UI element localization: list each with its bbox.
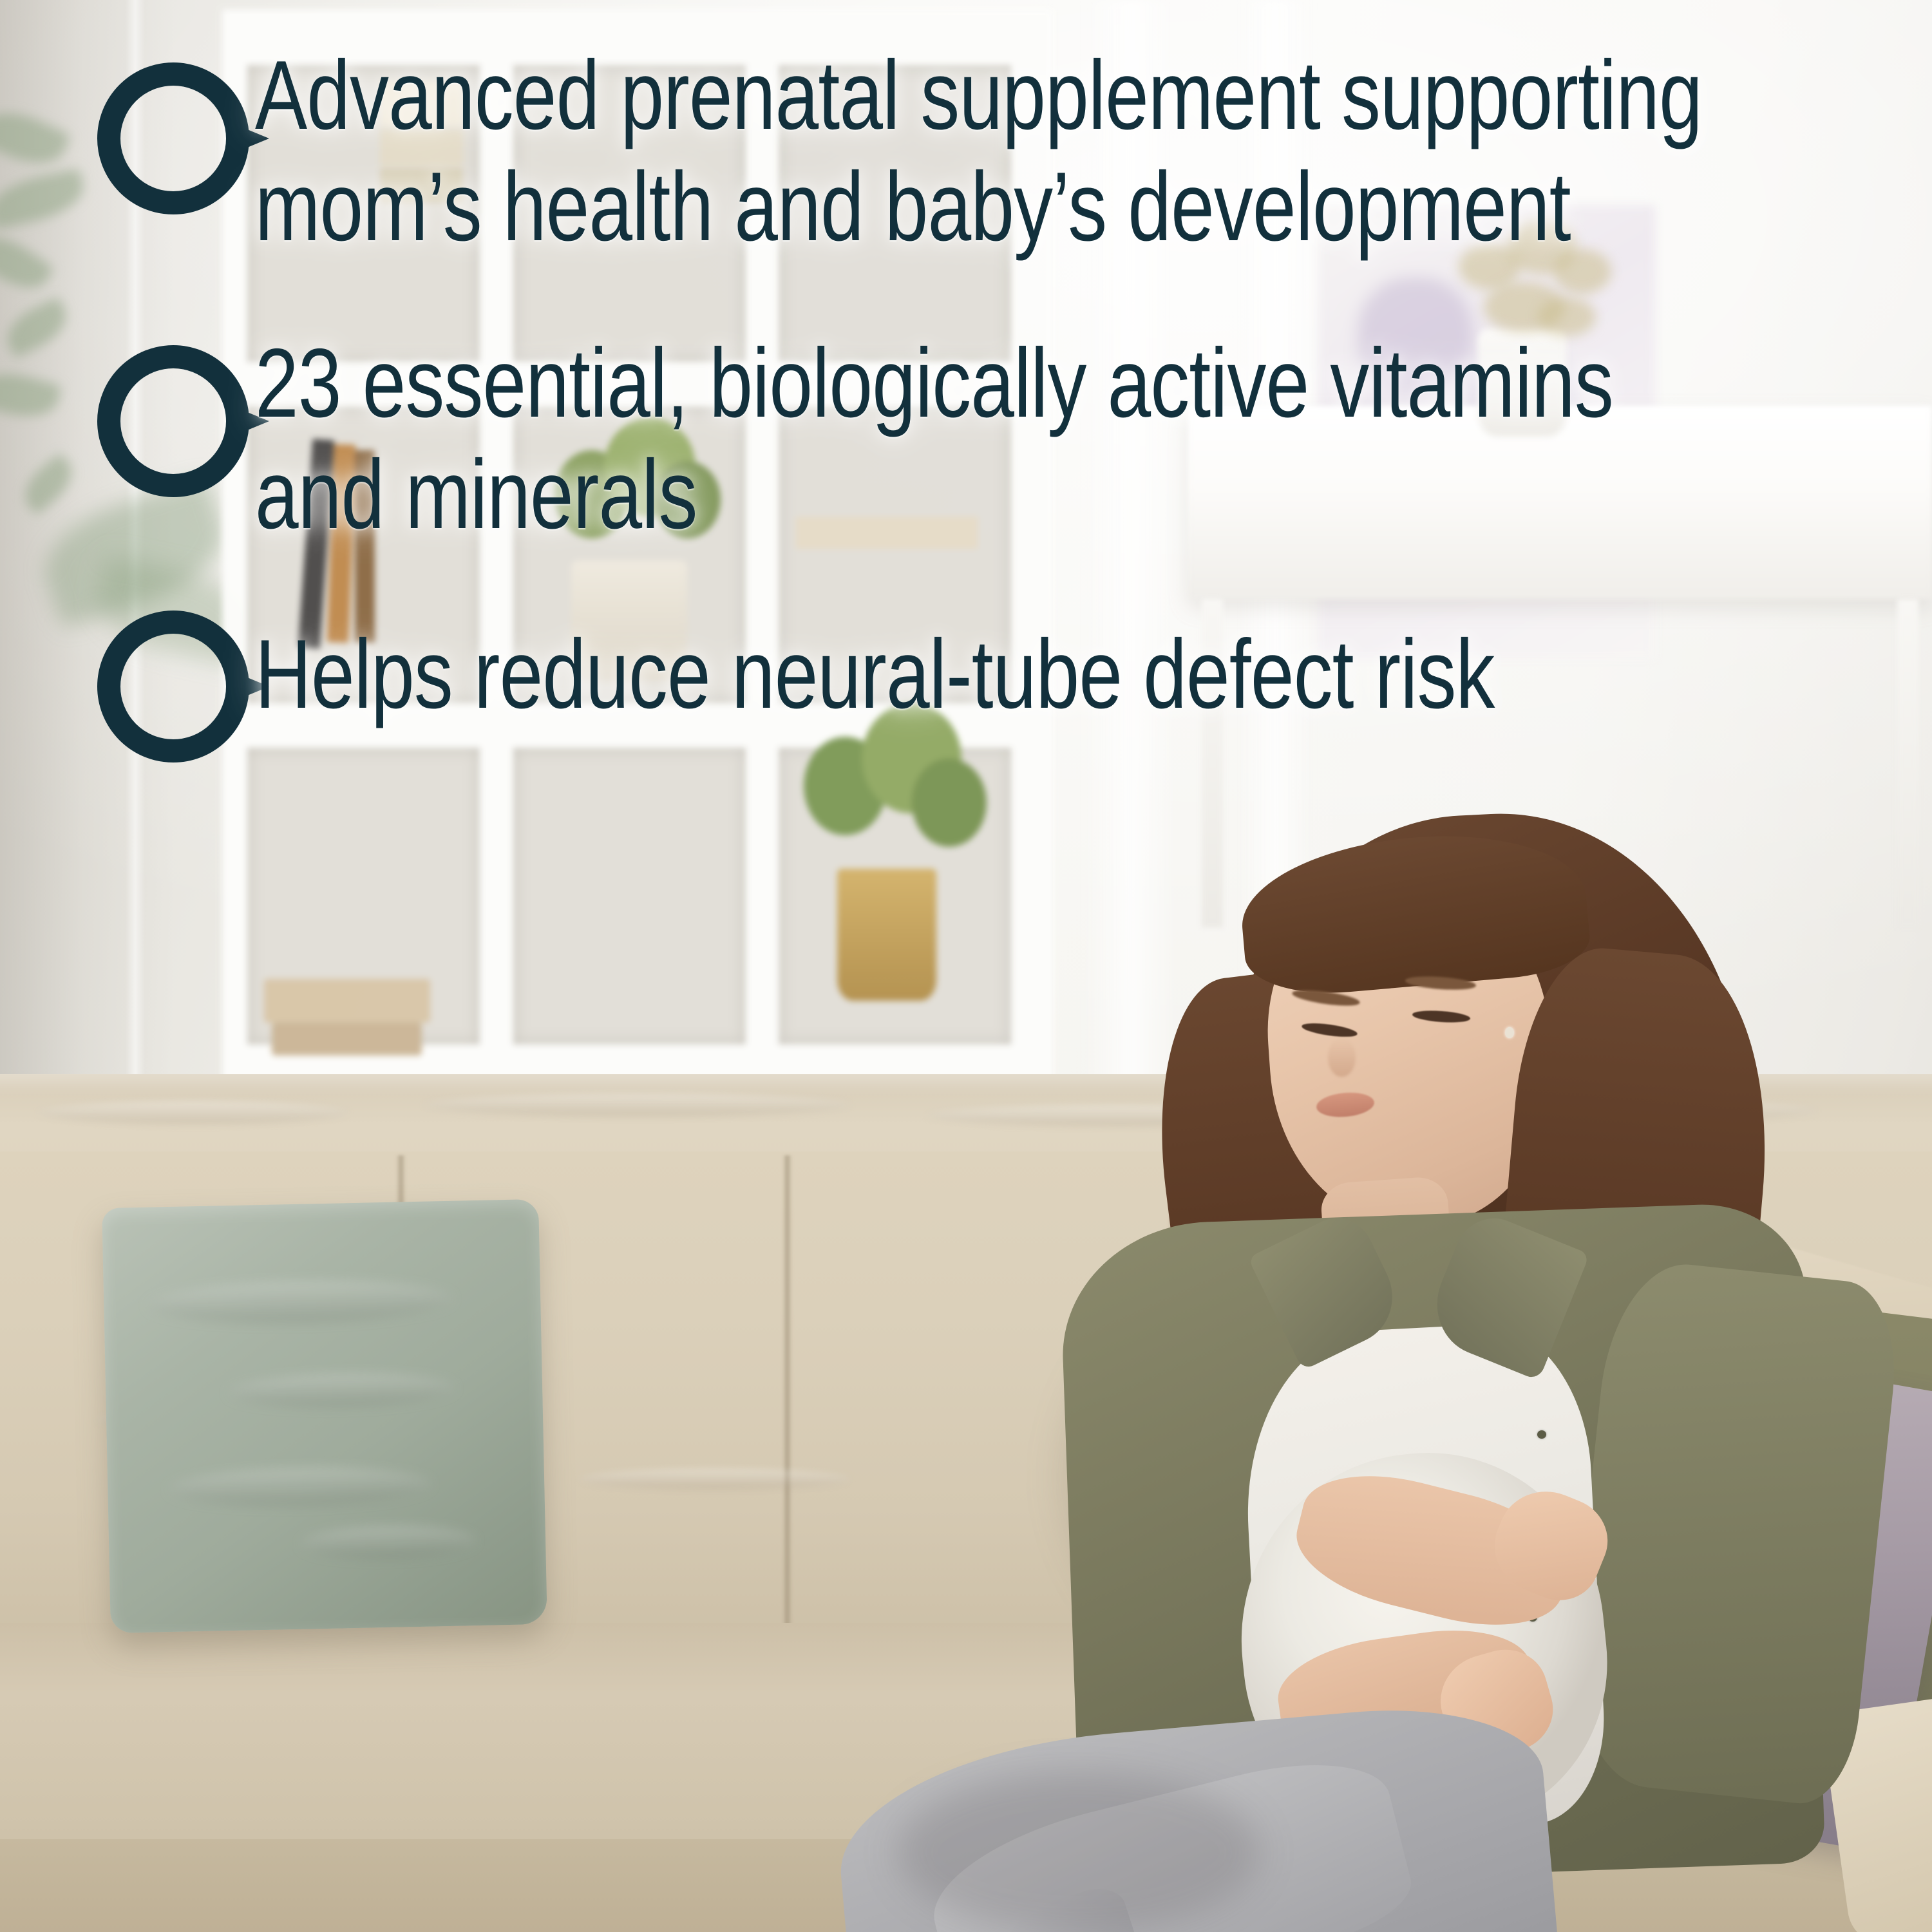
- bullet-line: mom’s health and baby’s development: [255, 151, 1702, 263]
- list-item: 23 essential, biologically active vitami…: [97, 328, 1919, 551]
- product-marketing-image: Advanced prenatal supplement supporting …: [0, 0, 1932, 1932]
- bullet-text: Helps reduce neural-tube defect risk: [255, 619, 1586, 730]
- ring-pointer-bullet-icon: [97, 62, 269, 215]
- bullet-line: Advanced prenatal supplement supporting: [255, 40, 1702, 151]
- ring-pointer-bullet-icon: [97, 345, 269, 498]
- benefit-bullet-list: Advanced prenatal supplement supporting …: [97, 40, 1919, 763]
- list-item: Advanced prenatal supplement supporting …: [97, 40, 1919, 263]
- bullet-text: Advanced prenatal supplement supporting …: [255, 40, 1702, 263]
- list-item: Helps reduce neural-tube defect risk: [97, 615, 1919, 763]
- text-overlay: Advanced prenatal supplement supporting …: [0, 0, 1932, 1932]
- bullet-text: 23 essential, biologically active vitami…: [255, 328, 1613, 551]
- bullet-line: 23 essential, biologically active vitami…: [255, 328, 1613, 439]
- ring-pointer-bullet-icon: [97, 610, 269, 763]
- bullet-line: Helps reduce neural-tube defect risk: [255, 619, 1586, 730]
- bullet-line: and minerals: [255, 439, 1613, 551]
